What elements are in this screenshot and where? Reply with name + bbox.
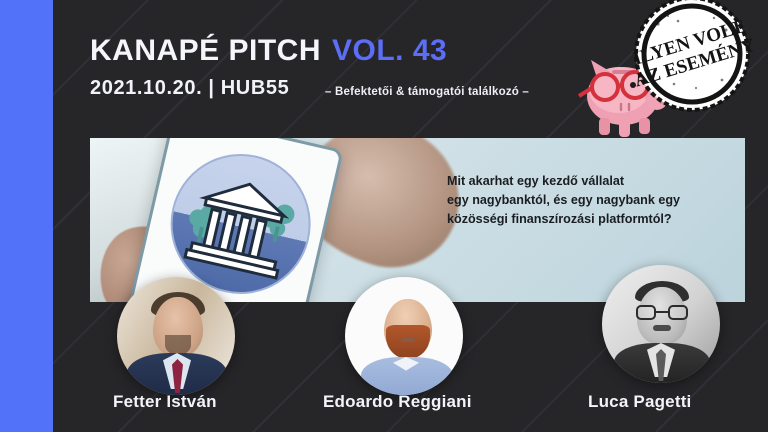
title-row: KANAPÉ PITCH VOL. 43 — [90, 34, 447, 68]
speaker-name-3: Luca Pagetti — [588, 392, 691, 412]
speaker-avatar-1 — [117, 277, 235, 395]
speaker-names-row: Fetter István Edoardo Reggiani Luca Page… — [53, 392, 768, 422]
event-question-text: Mit akarhat egy kezdő vállalat egy nagyb… — [447, 172, 737, 229]
moustache-icon — [653, 325, 671, 331]
event-recap-stamp-badge: ILYEN VOLT AZ ESEMÉNY — [626, 0, 758, 120]
glasses-icon — [636, 305, 688, 320]
mouth-icon — [401, 337, 415, 342]
poster-canvas: KANAPÉ PITCH VOL. 43 2021.10.20. | HUB55… — [0, 0, 768, 432]
left-accent-bar — [0, 0, 53, 432]
speaker-avatar-2 — [345, 277, 463, 395]
beard-icon — [165, 335, 191, 355]
page-title: KANAPÉ PITCH — [90, 34, 321, 68]
question-line-1: Mit akarhat egy kezdő vállalat — [447, 172, 737, 191]
event-subtitle: – Befektetői & támogatói találkozó – — [325, 86, 529, 98]
speaker-avatar-3 — [602, 265, 720, 383]
speaker-name-2: Edoardo Reggiani — [323, 392, 472, 412]
question-line-3: közösségi finanszírozási platformtól? — [447, 210, 737, 229]
speaker-name-1: Fetter István — [113, 392, 217, 412]
volume-label: VOL. 43 — [332, 34, 447, 68]
question-line-2: egy nagybanktól, és egy nagybank egy — [447, 191, 737, 210]
